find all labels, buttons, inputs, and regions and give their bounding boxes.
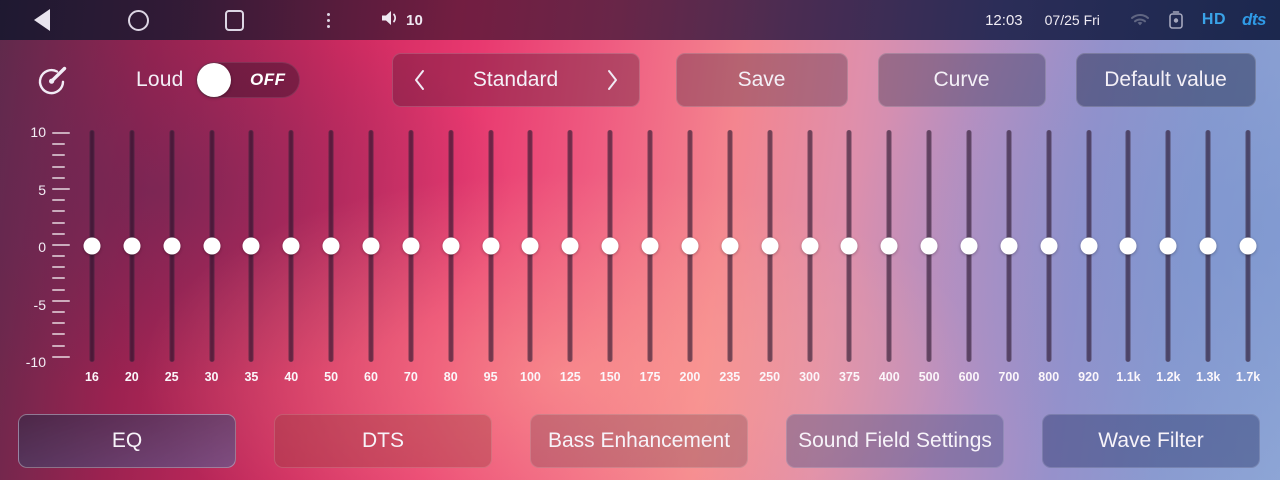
tab-dts[interactable]: DTS bbox=[274, 414, 492, 468]
band-slider[interactable] bbox=[1032, 130, 1066, 362]
preset-name: Standard bbox=[473, 68, 558, 92]
slider-thumb[interactable] bbox=[1120, 238, 1137, 255]
slider-thumb[interactable] bbox=[721, 238, 738, 255]
slider-thumb[interactable] bbox=[1240, 238, 1257, 255]
toggle-knob bbox=[197, 63, 231, 97]
gain-tick bbox=[52, 143, 65, 145]
band-slider[interactable] bbox=[274, 130, 308, 362]
frequency-label: 500 bbox=[919, 370, 940, 384]
frequency-label: 125 bbox=[560, 370, 581, 384]
gain-axis: 1050-5-10 bbox=[18, 130, 46, 360]
slider-thumb[interactable] bbox=[1160, 238, 1177, 255]
gain-tick bbox=[52, 300, 70, 302]
volume-level: 10 bbox=[406, 12, 423, 29]
gain-axis-label: -10 bbox=[26, 354, 46, 370]
frequency-label: 300 bbox=[799, 370, 820, 384]
volume-icon bbox=[380, 9, 402, 32]
frequency-label: 200 bbox=[679, 370, 700, 384]
band-slider[interactable] bbox=[912, 130, 946, 362]
tab-wave-filter[interactable]: Wave Filter bbox=[1042, 414, 1260, 468]
dts-badge: dts bbox=[1242, 10, 1266, 30]
gain-tick bbox=[52, 244, 70, 246]
gain-tick bbox=[52, 333, 65, 335]
band-slider[interactable] bbox=[394, 130, 428, 362]
frequency-label: 600 bbox=[959, 370, 980, 384]
slider-thumb[interactable] bbox=[681, 238, 698, 255]
slider-thumb[interactable] bbox=[203, 238, 220, 255]
gain-tick bbox=[52, 322, 65, 324]
slider-thumb[interactable] bbox=[1080, 238, 1097, 255]
frequency-label: 1.7k bbox=[1236, 370, 1260, 384]
frequency-label: 150 bbox=[600, 370, 621, 384]
bottom-tab-bar: EQDTSBass EnhancementSound Field Setting… bbox=[0, 402, 1280, 480]
device-icon[interactable] bbox=[1168, 11, 1184, 30]
slider-thumb[interactable] bbox=[801, 238, 818, 255]
gain-tick bbox=[52, 222, 65, 224]
frequency-label: 1.1k bbox=[1116, 370, 1140, 384]
frequency-label: 400 bbox=[879, 370, 900, 384]
back-icon[interactable] bbox=[16, 0, 68, 40]
band-slider[interactable] bbox=[553, 130, 587, 362]
slider-thumb[interactable] bbox=[482, 238, 499, 255]
equalizer-app: 10 12:03 07/25 Fri HD dts bbox=[0, 0, 1280, 480]
date-label: 07/25 Fri bbox=[1045, 12, 1100, 28]
band-slider[interactable] bbox=[314, 130, 348, 362]
gain-tick bbox=[52, 289, 65, 291]
slider-thumb[interactable] bbox=[841, 238, 858, 255]
band-slider[interactable] bbox=[1231, 130, 1265, 362]
band-slider[interactable] bbox=[992, 130, 1026, 362]
frequency-label: 60 bbox=[364, 370, 378, 384]
gain-tick bbox=[52, 154, 65, 156]
slider-thumb[interactable] bbox=[761, 238, 778, 255]
chevron-left-icon[interactable] bbox=[413, 54, 426, 106]
band-slider[interactable] bbox=[195, 130, 229, 362]
slider-thumb[interactable] bbox=[323, 238, 340, 255]
tab-sound-field-settings[interactable]: Sound Field Settings bbox=[786, 414, 1004, 468]
frequency-label: 70 bbox=[404, 370, 418, 384]
gain-axis-label: 10 bbox=[30, 124, 46, 140]
gain-tick bbox=[52, 255, 65, 257]
gain-axis-label: -5 bbox=[34, 297, 46, 313]
band-slider[interactable] bbox=[234, 130, 268, 362]
slider-thumb[interactable] bbox=[363, 238, 380, 255]
default-value-button[interactable]: Default value bbox=[1076, 53, 1256, 107]
chevron-right-icon[interactable] bbox=[606, 54, 619, 106]
slider-thumb[interactable] bbox=[163, 238, 180, 255]
gain-tick bbox=[52, 311, 65, 313]
loudness-control[interactable]: Loud OFF bbox=[136, 62, 300, 98]
hd-badge: HD bbox=[1202, 11, 1226, 29]
band-slider[interactable] bbox=[75, 130, 109, 362]
slider-thumb[interactable] bbox=[961, 238, 978, 255]
slider-thumb[interactable] bbox=[83, 238, 100, 255]
slider-thumb[interactable] bbox=[402, 238, 419, 255]
gain-tick bbox=[52, 166, 65, 168]
edit-gauge-icon[interactable] bbox=[30, 60, 74, 100]
band-slider[interactable] bbox=[115, 130, 149, 362]
band-slider[interactable] bbox=[474, 130, 508, 362]
gain-tick bbox=[52, 177, 65, 179]
frequency-labels: 1620253035405060708095100125150175200235… bbox=[72, 370, 1268, 390]
slider-thumb[interactable] bbox=[1000, 238, 1017, 255]
frequency-label: 25 bbox=[165, 370, 179, 384]
equalizer-panel: 1050-5-10 162025303540506070809510012515… bbox=[0, 120, 1280, 390]
slider-thumb[interactable] bbox=[881, 238, 898, 255]
frequency-label: 700 bbox=[998, 370, 1019, 384]
band-slider[interactable] bbox=[952, 130, 986, 362]
slider-thumb[interactable] bbox=[1040, 238, 1057, 255]
frequency-label: 1.2k bbox=[1156, 370, 1180, 384]
home-icon[interactable] bbox=[112, 0, 164, 40]
save-button[interactable]: Save bbox=[676, 53, 848, 107]
band-slider[interactable] bbox=[434, 130, 468, 362]
band-slider[interactable] bbox=[673, 130, 707, 362]
toggle-state-label: OFF bbox=[250, 70, 286, 90]
frequency-label: 920 bbox=[1078, 370, 1099, 384]
band-slider[interactable] bbox=[593, 130, 627, 362]
frequency-label: 20 bbox=[125, 370, 139, 384]
loudness-toggle[interactable]: OFF bbox=[196, 62, 300, 98]
band-slider[interactable] bbox=[832, 130, 866, 362]
gain-tick bbox=[52, 188, 70, 190]
frequency-label: 250 bbox=[759, 370, 780, 384]
slider-thumb[interactable] bbox=[921, 238, 938, 255]
band-slider[interactable] bbox=[753, 130, 787, 362]
gain-tick bbox=[52, 132, 70, 134]
frequency-label: 35 bbox=[244, 370, 258, 384]
wifi-icon[interactable] bbox=[1130, 13, 1150, 28]
slider-thumb[interactable] bbox=[123, 238, 140, 255]
frequency-label: 100 bbox=[520, 370, 541, 384]
band-slider[interactable] bbox=[513, 130, 547, 362]
gain-tick bbox=[52, 345, 65, 347]
preset-selector[interactable]: Standard bbox=[392, 53, 640, 107]
frequency-label: 175 bbox=[640, 370, 661, 384]
frequency-label: 16 bbox=[85, 370, 99, 384]
slider-thumb[interactable] bbox=[283, 238, 300, 255]
tab-bass-enhancement[interactable]: Bass Enhancement bbox=[530, 414, 748, 468]
gain-tick bbox=[52, 266, 65, 268]
slider-thumb[interactable] bbox=[243, 238, 260, 255]
loudness-label: Loud bbox=[136, 68, 184, 92]
frequency-label: 80 bbox=[444, 370, 458, 384]
slider-thumb[interactable] bbox=[442, 238, 459, 255]
band-slider[interactable] bbox=[713, 130, 747, 362]
gain-tick bbox=[52, 356, 70, 358]
band-slider[interactable] bbox=[872, 130, 906, 362]
frequency-label: 235 bbox=[719, 370, 740, 384]
band-slider[interactable] bbox=[1072, 130, 1106, 362]
tab-eq[interactable]: EQ bbox=[18, 414, 236, 468]
status-bar: 10 12:03 07/25 Fri HD dts bbox=[0, 0, 1280, 40]
curve-button[interactable]: Curve bbox=[878, 53, 1046, 107]
volume-indicator[interactable]: 10 bbox=[380, 9, 423, 32]
frequency-label: 800 bbox=[1038, 370, 1059, 384]
frequency-label: 95 bbox=[484, 370, 498, 384]
slider-thumb[interactable] bbox=[522, 238, 539, 255]
band-slider[interactable] bbox=[354, 130, 388, 362]
gain-ruler bbox=[52, 132, 70, 358]
slider-thumb[interactable] bbox=[602, 238, 619, 255]
band-slider[interactable] bbox=[1111, 130, 1145, 362]
gain-tick bbox=[52, 233, 65, 235]
frequency-label: 375 bbox=[839, 370, 860, 384]
band-slider[interactable] bbox=[793, 130, 827, 362]
slider-thumb[interactable] bbox=[642, 238, 659, 255]
gain-axis-label: 5 bbox=[38, 182, 46, 198]
gain-tick bbox=[52, 277, 65, 279]
band-slider[interactable] bbox=[155, 130, 189, 362]
recents-icon[interactable] bbox=[208, 0, 260, 40]
slider-thumb[interactable] bbox=[1200, 238, 1217, 255]
status-bar-right: 12:03 07/25 Fri HD dts bbox=[985, 10, 1280, 30]
clock: 12:03 bbox=[985, 12, 1023, 29]
band-slider[interactable] bbox=[1191, 130, 1225, 362]
band-sliders bbox=[72, 130, 1268, 362]
band-slider[interactable] bbox=[633, 130, 667, 362]
slider-thumb[interactable] bbox=[562, 238, 579, 255]
band-slider[interactable] bbox=[1151, 130, 1185, 362]
overflow-menu-icon[interactable] bbox=[302, 0, 354, 40]
gain-tick bbox=[52, 199, 65, 201]
gain-tick bbox=[52, 210, 65, 212]
frequency-label: 40 bbox=[284, 370, 298, 384]
eq-toolbar: Loud OFF Standard Save Curve Default val… bbox=[0, 40, 1280, 120]
frequency-label: 30 bbox=[205, 370, 219, 384]
frequency-label: 1.3k bbox=[1196, 370, 1220, 384]
gain-axis-label: 0 bbox=[38, 239, 46, 255]
frequency-label: 50 bbox=[324, 370, 338, 384]
